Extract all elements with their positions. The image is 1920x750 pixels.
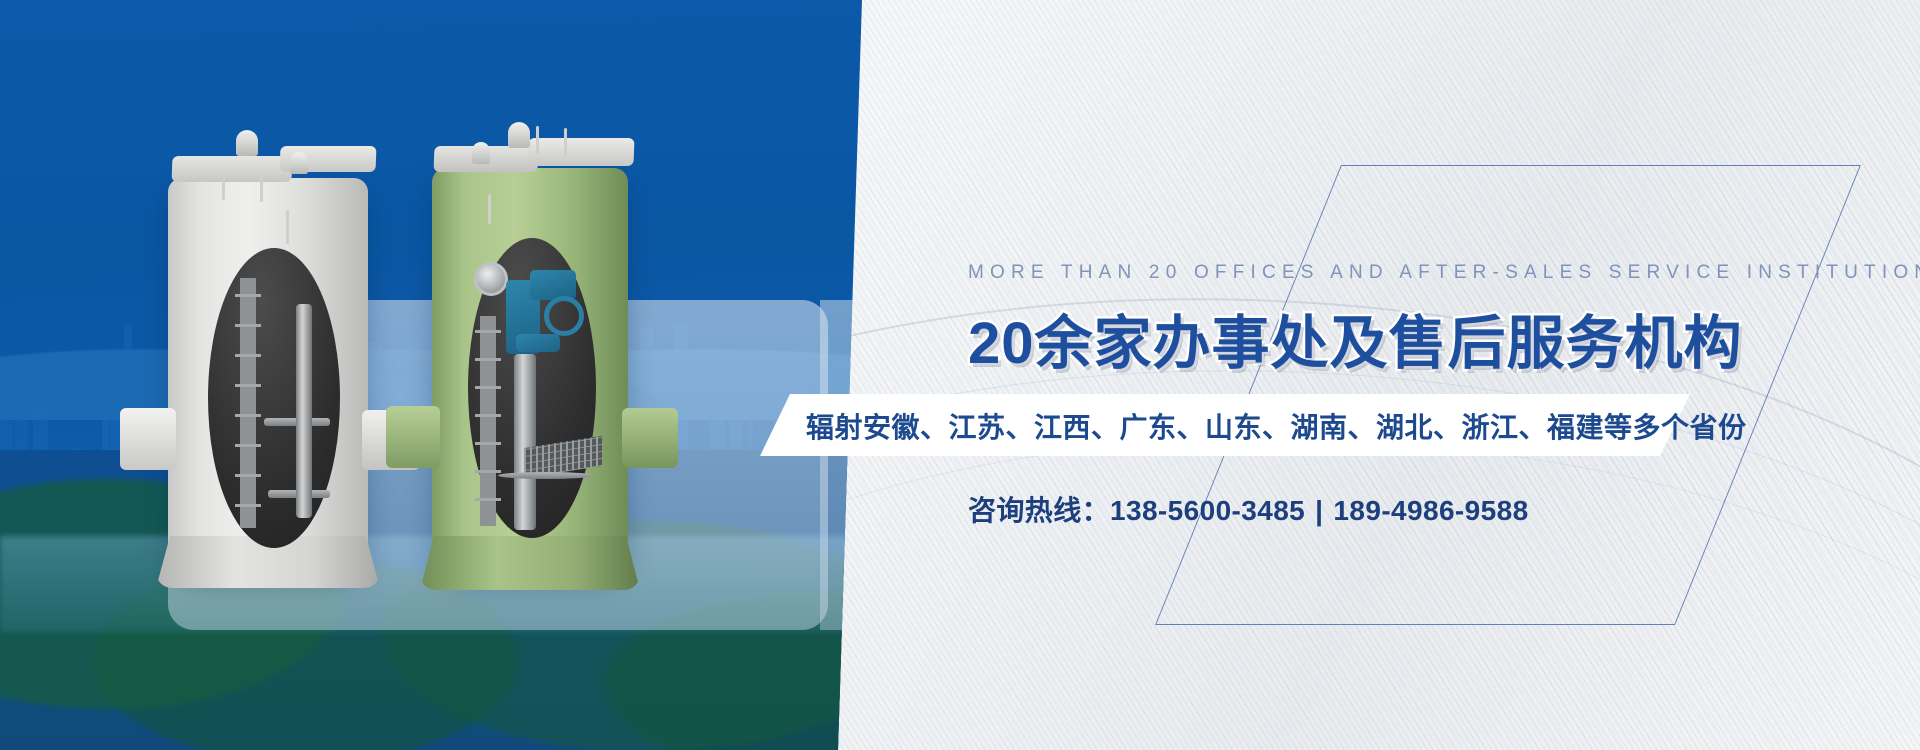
lid-handle (222, 172, 225, 200)
grey-lid-left (172, 156, 293, 182)
interior-ladder (480, 316, 496, 526)
lid-handle (536, 126, 539, 154)
interior-ladder (240, 278, 256, 528)
page-title: 20余家办事处及售后服务机构 (968, 296, 1743, 380)
product-image-green-pump-station (432, 120, 688, 600)
valve-elbow (530, 270, 576, 300)
vent-cap-icon (508, 122, 530, 148)
shell-handle (488, 194, 491, 224)
grey-cutaway-window (208, 248, 340, 548)
interior-riser-pipe (296, 304, 312, 518)
phone-separator: | (1305, 495, 1333, 526)
green-lid-right (528, 138, 635, 166)
vent-cap-icon (472, 142, 490, 164)
shell-handle (286, 210, 289, 244)
lid-handle (260, 174, 263, 202)
vent-cap-icon (236, 130, 258, 156)
green-base-skirt (420, 536, 640, 590)
eyebrow-tagline: MORE THAN 20 OFFICES AND AFTER-SALES SER… (968, 262, 1920, 284)
pipe-flange (474, 262, 508, 296)
hotline-row: 咨询热线：138-5600-3485|189-4986-9588 (968, 489, 1529, 529)
hand-wheel-icon (544, 296, 584, 336)
phone-secondary[interactable]: 189-4986-9588 (1333, 495, 1528, 526)
hotline-label: 咨询热线： (968, 495, 1110, 526)
product-image-grey-pump-station (168, 118, 428, 598)
green-outlet-pipe (622, 408, 678, 468)
phone-primary[interactable]: 138-5600-3485 (1110, 495, 1305, 526)
subtitle-text: 辐射安徽、江苏、江西、广东、山东、湖南、湖北、浙江、福建等多个省份 (806, 406, 1747, 446)
pump-column (514, 354, 536, 530)
valve-flange (516, 334, 560, 352)
grey-inlet-pipe (120, 408, 176, 470)
green-inlet-pipe (386, 406, 440, 468)
lid-handle (564, 128, 567, 156)
interior-railing (498, 472, 594, 479)
promo-banner: MORE THAN 20 OFFICES AND AFTER-SALES SER… (0, 0, 1920, 750)
vent-cap-icon (290, 152, 308, 174)
